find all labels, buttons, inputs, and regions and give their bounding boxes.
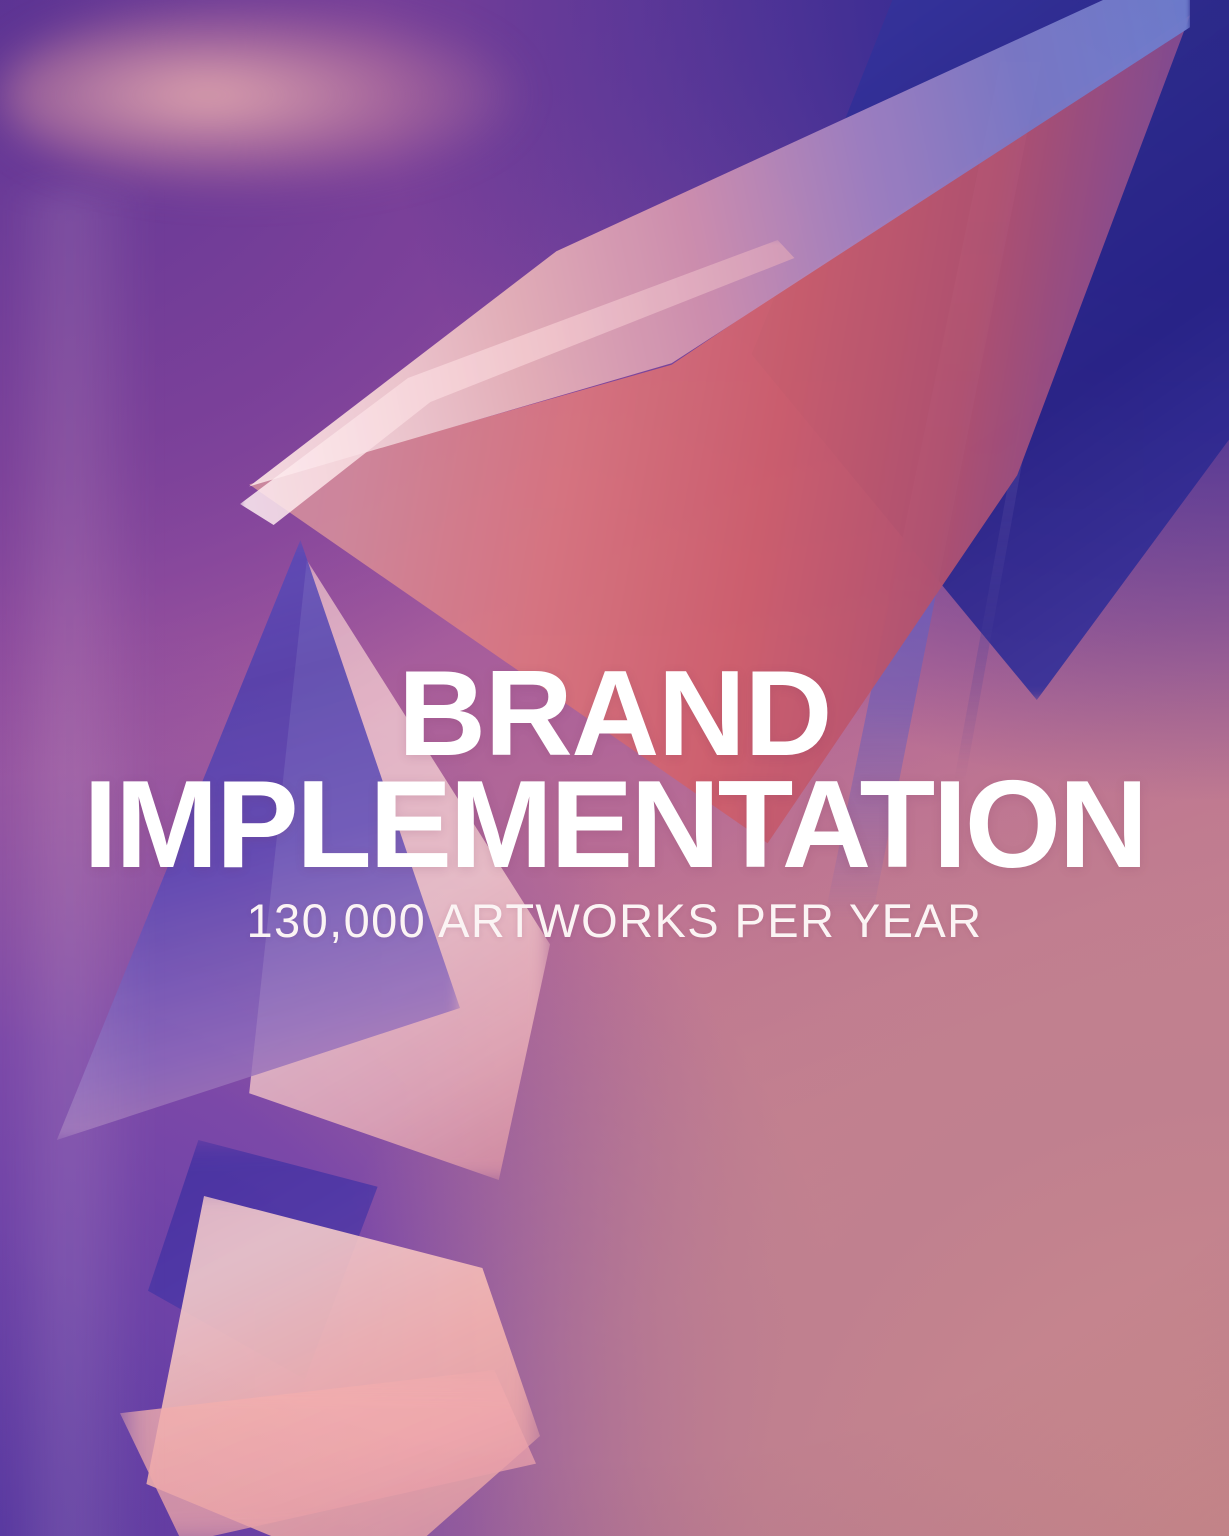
right-light-band <box>0 190 150 1536</box>
poster-canvas: BRAND IMPLEMENTATION 130,000 ARTWORKS PE… <box>0 0 1229 1536</box>
bottom-right-glow <box>0 0 520 190</box>
